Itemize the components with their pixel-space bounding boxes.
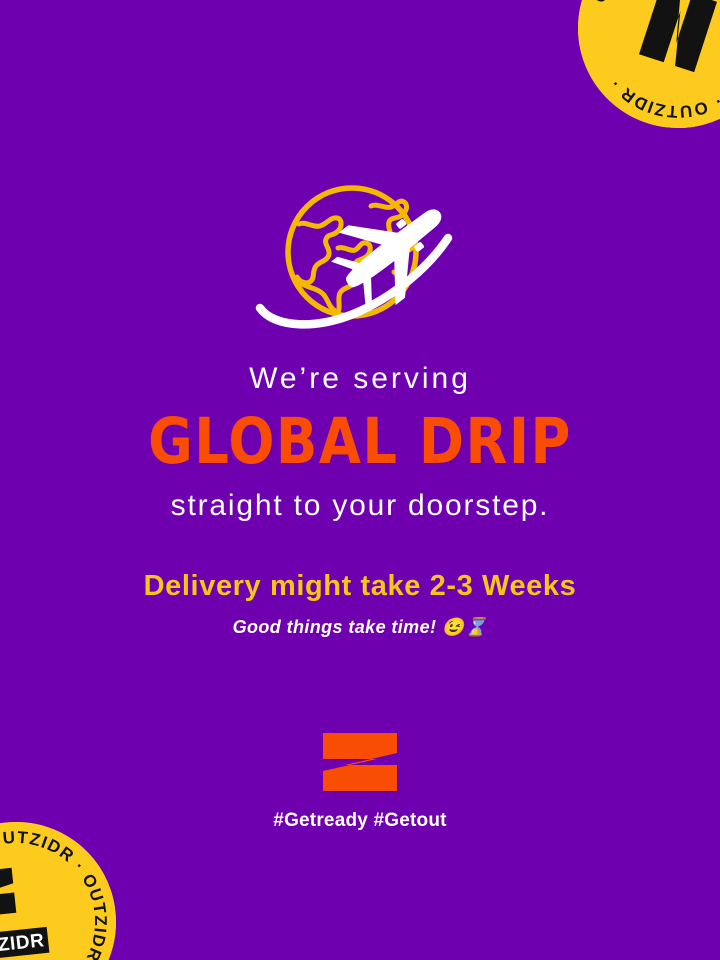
brand-badge-top-right: OUTZIDR · OUTZIDR · OUTZIDR · OUTZIDR · [552,0,720,154]
headline-text: GLOBAL DRIP [37,410,682,473]
eyebrow-text: We’re serving [24,362,696,396]
footer-brand: #Getready #Getout [0,731,720,832]
copy-block: We’re serving GLOBAL DRIP straight to yo… [0,362,720,638]
hero-illustration [0,176,720,348]
z-logo-icon [321,731,399,793]
poster-canvas: We’re serving GLOBAL DRIP straight to yo… [0,0,720,960]
brand-badge-bottom-left: OUTZIDR · OUTZIDR · OUTZIDR · OUTZIDR · … [0,812,126,960]
hashtags-text: #Getready #Getout [0,810,720,832]
subline-text: straight to your doorstep. [24,489,696,523]
globe-airplane-icon [242,176,478,348]
delivery-note: Delivery might take 2-3 Weeks [24,570,696,603]
reassurance-text: Good things take time! 😉⌛ [24,617,696,639]
